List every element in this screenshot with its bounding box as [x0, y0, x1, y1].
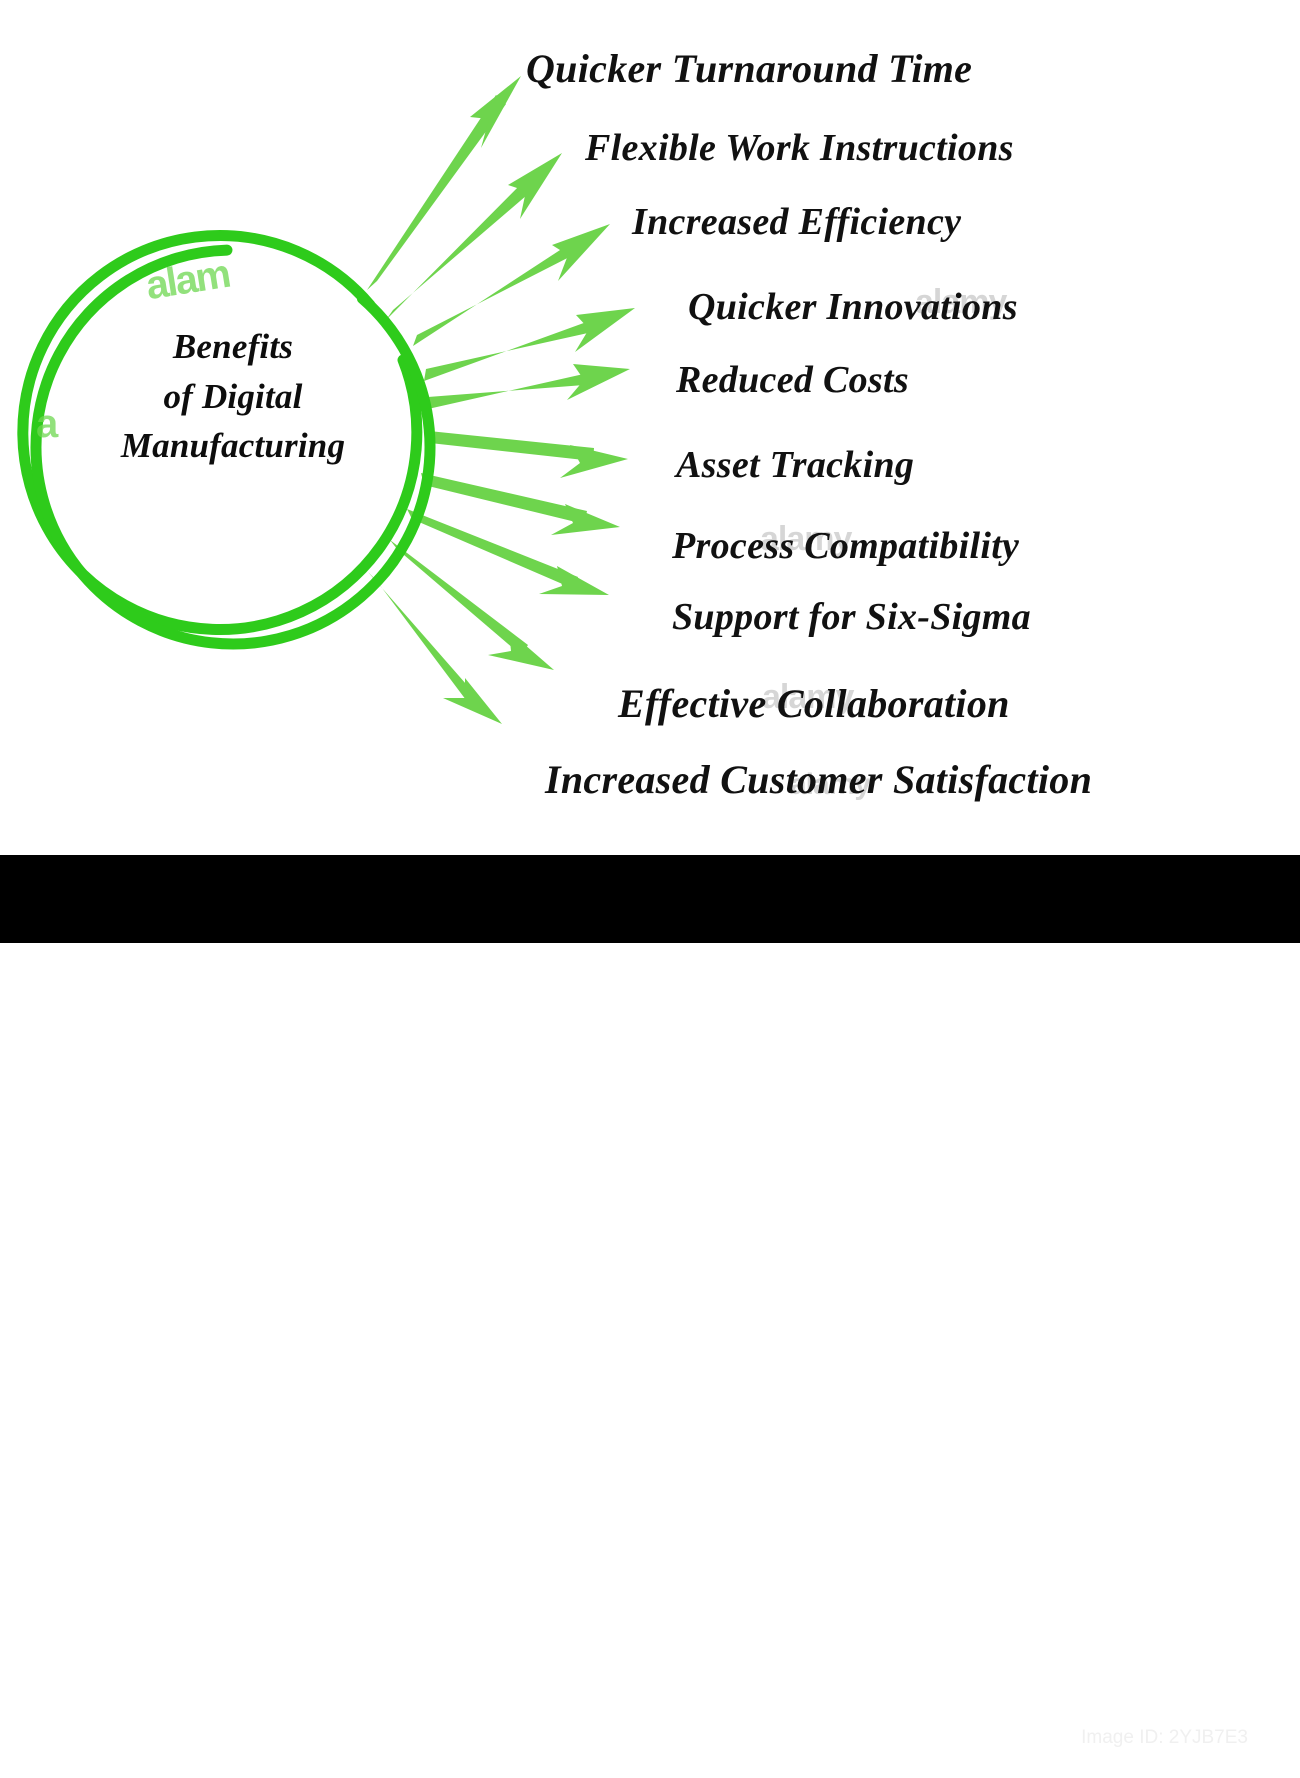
diagram-canvas: alamy alamy alamy alamy: [0, 0, 1300, 943]
benefit-label-support-for-six-sigma: Support for Six-Sigma: [672, 595, 1031, 639]
benefit-label-process-compatibility: Process Compatibility: [672, 524, 1019, 568]
benefit-label-flexible-work-instructions: Flexible Work Instructions: [585, 126, 1014, 170]
footer-watermark-bar: alamy Image ID: 2YJB7E3 www.alamy.com: [0, 855, 1300, 943]
center-line-2: of Digital: [83, 372, 383, 422]
center-line-1: Benefits: [83, 322, 383, 372]
benefit-label-quicker-innovations: Quicker Innovations: [688, 285, 1018, 329]
arrow-asset-tracking: [429, 431, 628, 478]
arrow-group: [367, 76, 635, 724]
center-line-3: Manufacturing: [83, 421, 383, 471]
benefit-label-increased-efficiency: Increased Efficiency: [632, 200, 961, 244]
benefit-label-increased-customer-satisfaction: Increased Customer Satisfaction: [545, 756, 1092, 803]
benefit-label-reduced-costs: Reduced Costs: [676, 358, 909, 402]
image-id-text: Image ID: 2YJB7E3: [1081, 1727, 1248, 1749]
arrow-process-compatibility: [421, 473, 620, 535]
arrow-quicker-turnaround-time: [367, 76, 521, 290]
alamy-url-text: www.alamy.com: [1079, 1752, 1248, 1778]
center-node-label: Benefits of Digital Manufacturing: [83, 322, 383, 471]
benefit-label-quicker-turnaround-time: Quicker Turnaround Time: [526, 45, 972, 92]
arrow-increased-customer-satisfaction: [368, 572, 502, 724]
benefit-label-effective-collaboration: Effective Collaboration: [618, 680, 1010, 727]
arrow-reduced-costs: [428, 364, 630, 409]
arrow-flexible-work-instructions: [386, 153, 562, 320]
alamy-logo: alamy: [53, 1728, 179, 1775]
benefit-label-asset-tracking: Asset Tracking: [676, 443, 914, 487]
